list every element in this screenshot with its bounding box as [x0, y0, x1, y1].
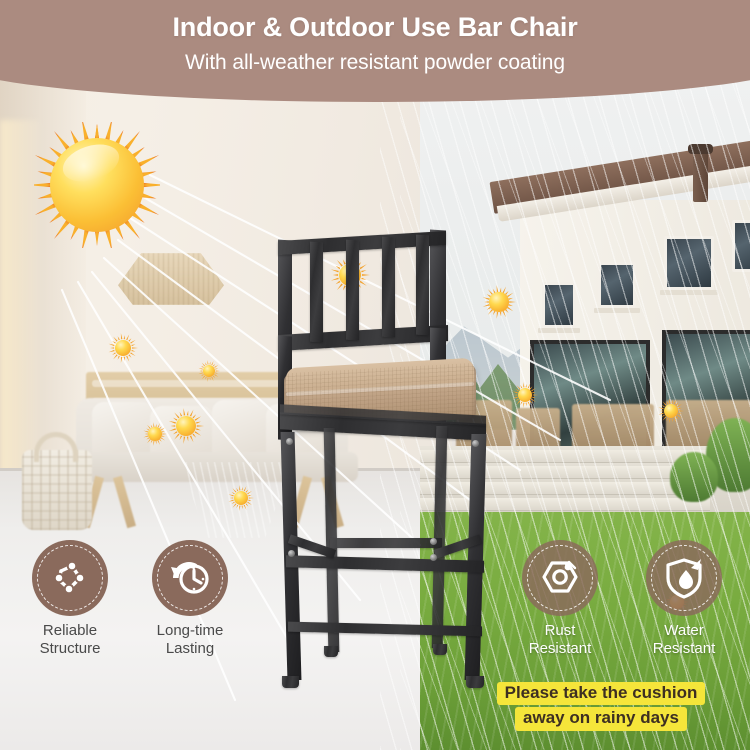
- sun-icon: [108, 333, 138, 363]
- screw: [286, 438, 293, 445]
- backrest-slat: [346, 240, 359, 341]
- feature-badge-reliable-structure: Reliable Structure: [32, 540, 108, 616]
- badge-label: Reliable Structure: [10, 622, 130, 657]
- chair-foot: [324, 646, 338, 657]
- window-sill: [660, 290, 718, 295]
- note-line-1: Please take the cushion: [497, 682, 706, 706]
- header-text-block: Indoor & Outdoor Use Bar Chair With all-…: [0, 0, 750, 75]
- window: [542, 282, 576, 328]
- backrest-slat: [382, 237, 395, 338]
- basket-weave-texture: [22, 450, 92, 530]
- sun-icon: [228, 485, 254, 511]
- note-line-2: away on rainy days: [515, 707, 687, 731]
- sun-icon: [658, 398, 684, 424]
- shield-droplet-icon: [663, 556, 705, 600]
- feature-badge-water-resistant: Water Resistant: [646, 540, 722, 616]
- front-right-leg: [465, 434, 487, 680]
- window: [664, 236, 714, 290]
- sun-core: [148, 427, 161, 440]
- screw: [288, 550, 295, 557]
- feature-badge-rust-resistant: Rust Resistant: [522, 540, 598, 616]
- window: [732, 220, 750, 272]
- sun-icon: [34, 122, 160, 248]
- cushion-care-note: Please take the cushion away on rainy da…: [468, 681, 734, 732]
- bar-chair: [252, 232, 510, 710]
- patio-bench: [572, 404, 654, 448]
- window: [598, 262, 636, 308]
- badge-label: Long-time Lasting: [130, 622, 250, 657]
- page-subtitle: With all-weather resistant powder coatin…: [0, 43, 750, 75]
- sun-icon: [143, 422, 167, 446]
- page-title: Indoor & Outdoor Use Bar Chair: [0, 0, 750, 43]
- feature-badge-long-time-lasting: Long-time Lasting: [152, 540, 228, 616]
- sun-core: [176, 416, 196, 436]
- backrest-slat: [310, 242, 323, 343]
- lower-stretcher: [288, 622, 482, 637]
- footrest-back-bar: [330, 538, 442, 548]
- back-right-leg: [432, 426, 448, 648]
- chair-foot: [433, 644, 447, 655]
- clock-refresh-icon: [169, 558, 211, 598]
- window-sill: [594, 308, 640, 313]
- product-marketing-image: Indoor & Outdoor Use Bar Chair With all-…: [0, 0, 750, 750]
- screw: [430, 538, 437, 545]
- sun-icon: [198, 360, 220, 382]
- sun-icon: [512, 382, 538, 408]
- chimney-cap: [688, 144, 713, 154]
- header-banner: Indoor & Outdoor Use Bar Chair With all-…: [0, 0, 750, 102]
- chimney: [693, 150, 708, 202]
- structure-nodes-icon: [50, 558, 90, 598]
- footrest-front-bar: [286, 555, 484, 573]
- hex-nut-icon: [539, 557, 581, 599]
- screw: [430, 554, 437, 561]
- screw: [472, 440, 479, 447]
- badge-label: Water Resistant: [624, 622, 744, 657]
- sun-icon: [168, 408, 204, 444]
- window-sill: [538, 328, 580, 333]
- chair-foot: [282, 676, 299, 688]
- shrub: [670, 452, 718, 502]
- backrest-slat: [416, 235, 429, 336]
- badge-label: Rust Resistant: [500, 622, 620, 657]
